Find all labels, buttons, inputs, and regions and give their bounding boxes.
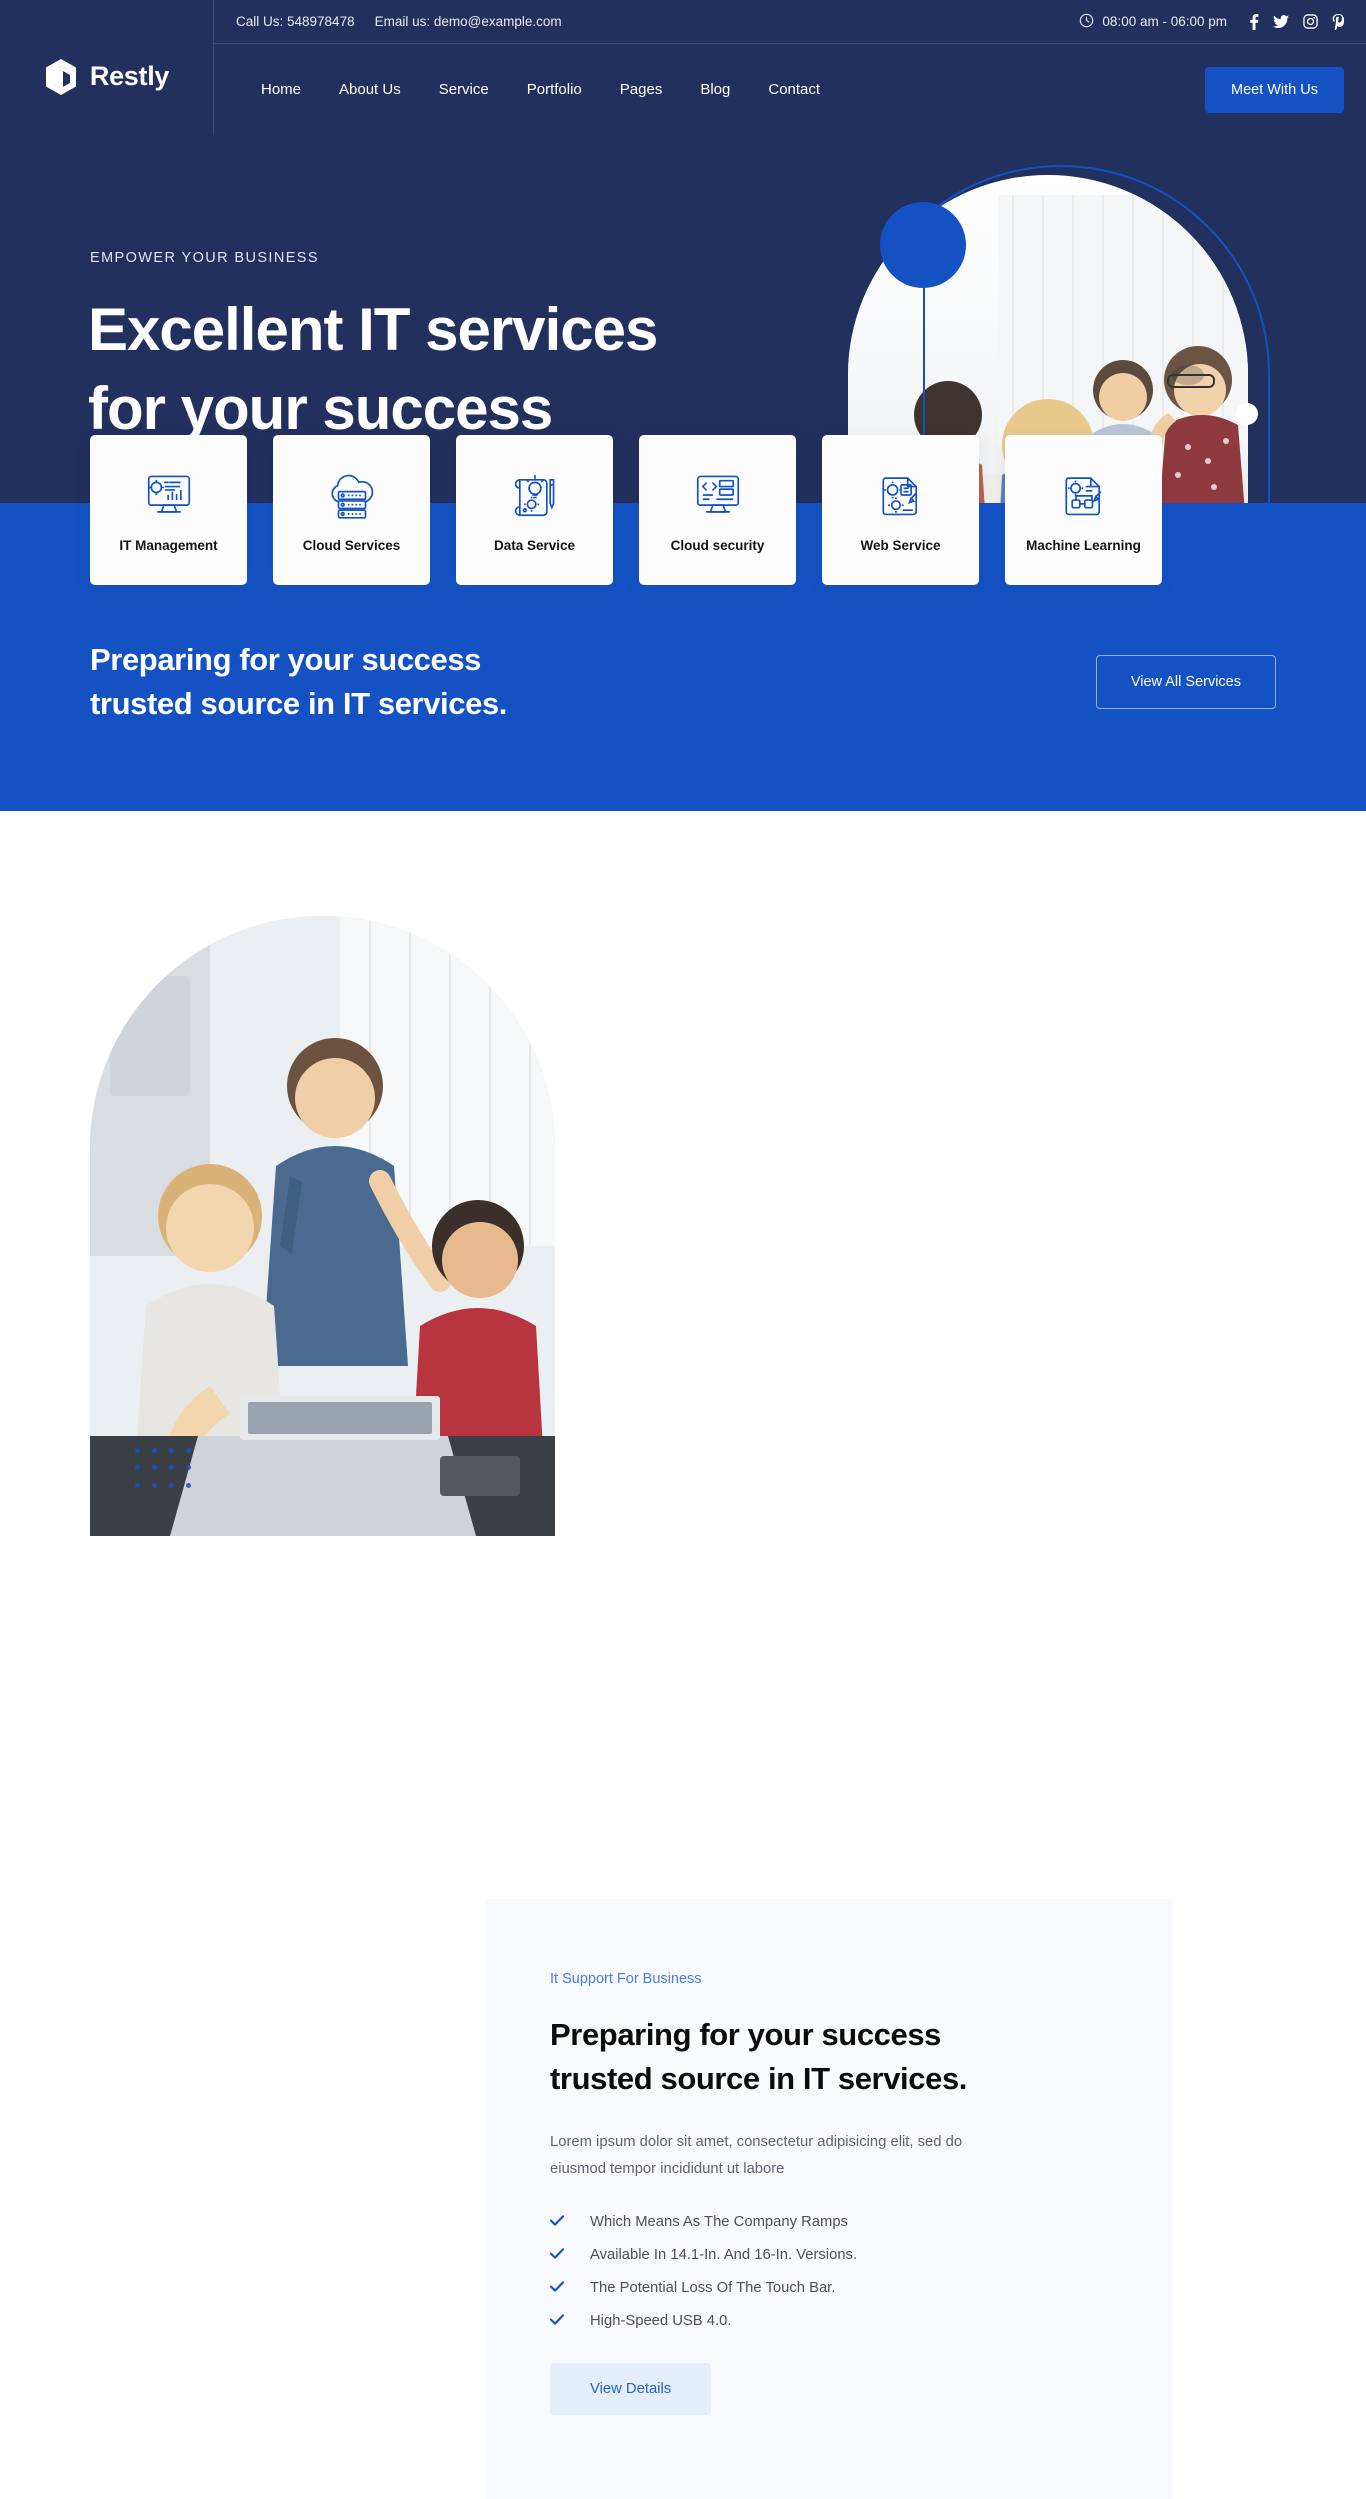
gear-document-icon: [874, 468, 928, 522]
about-content-card: It Support For Business Preparing for yo…: [486, 1899, 1172, 2499]
pinterest-icon[interactable]: [1332, 14, 1344, 30]
about-feature-list: Which Means As The Company Ramps Availab…: [550, 2214, 1108, 2329]
service-card-cloud-security[interactable]: Cloud security: [639, 435, 796, 585]
hexagon-logo-icon: [44, 58, 78, 96]
services-cta-band: IT Management Cloud Services: [0, 503, 1366, 811]
hero-title: Excellent IT services for your success: [88, 290, 788, 448]
phone-text[interactable]: Call Us: 548978478: [236, 14, 355, 29]
feature-label: Available In 14.1-In. And 16-In. Version…: [590, 2247, 857, 2263]
service-card-label: Machine Learning: [1026, 538, 1141, 553]
nav-item-about-us[interactable]: About Us: [320, 81, 420, 98]
cloud-server-icon: [325, 468, 379, 522]
feature-item: The Potential Loss Of The Touch Bar.: [550, 2280, 1108, 2296]
hero-title-line1: Excellent IT services: [88, 296, 657, 363]
main-navigation: Home About Us Service Portfolio Pages Bl…: [242, 81, 839, 98]
twitter-icon[interactable]: [1273, 15, 1289, 29]
idea-design-icon: [508, 468, 562, 522]
check-icon: [550, 2214, 564, 2229]
service-card-label: Cloud security: [671, 538, 765, 553]
view-all-services-button[interactable]: View All Services: [1096, 655, 1276, 709]
feature-item: High-Speed USB 4.0.: [550, 2313, 1108, 2329]
meet-with-us-button[interactable]: Meet With Us: [1205, 67, 1344, 113]
brand-name: Restly: [90, 61, 169, 92]
nav-item-contact[interactable]: Contact: [749, 81, 839, 98]
about-title-line2: trusted source in IT services.: [550, 2061, 967, 2096]
service-card-it-management[interactable]: IT Management: [90, 435, 247, 585]
social-links: [1249, 14, 1344, 30]
nav-item-home[interactable]: Home: [242, 81, 320, 98]
feature-item: Which Means As The Company Ramps: [550, 2214, 1108, 2230]
facebook-icon[interactable]: [1249, 14, 1259, 30]
cta-title-line1: Preparing for your success: [90, 642, 481, 677]
clock-icon: [1079, 13, 1094, 31]
feature-label: Which Means As The Company Ramps: [590, 2214, 848, 2230]
hero-title-line2: for your success: [88, 375, 552, 442]
service-card-machine-learning[interactable]: Machine Learning: [1005, 435, 1162, 585]
nav-item-portfolio[interactable]: Portfolio: [508, 81, 601, 98]
blue-circle-decoration: [880, 202, 966, 288]
check-icon: [550, 2280, 564, 2295]
service-cards-row: IT Management Cloud Services: [90, 435, 1162, 585]
view-details-button[interactable]: View Details: [550, 2363, 711, 2415]
monitor-analytics-icon: [142, 468, 196, 522]
contact-info: Call Us: 548978478 Email us: demo@exampl…: [236, 14, 562, 29]
about-section: It Support For Business Preparing for yo…: [0, 811, 1366, 1601]
hours-and-socials: 08:00 am - 06:00 pm: [1079, 13, 1344, 31]
email-text[interactable]: Email us: demo@example.com: [375, 14, 562, 29]
service-card-web-service[interactable]: Web Service: [822, 435, 979, 585]
main-nav-row: Home About Us Service Portfolio Pages Bl…: [214, 44, 1366, 135]
about-image-group: [90, 916, 555, 1536]
top-info-bar: Call Us: 548978478 Email us: demo@exampl…: [214, 0, 1366, 44]
landing-page: Restly Call Us: 548978478 Email us: demo…: [0, 0, 1366, 1601]
logo-container[interactable]: Restly: [0, 0, 214, 135]
ai-chip-document-icon: [1057, 468, 1111, 522]
service-card-label: Data Service: [494, 538, 575, 553]
service-card-cloud-services[interactable]: Cloud Services: [273, 435, 430, 585]
nav-item-pages[interactable]: Pages: [601, 81, 682, 98]
about-description: Lorem ipsum dolor sit amet, consectetur …: [550, 2129, 975, 2184]
service-card-label: IT Management: [119, 538, 217, 553]
office-hours: 08:00 am - 06:00 pm: [1079, 13, 1227, 31]
about-photo: [90, 916, 555, 1536]
feature-label: High-Speed USB 4.0.: [590, 2313, 731, 2329]
site-header: Restly Call Us: 548978478 Email us: demo…: [0, 0, 1366, 135]
service-card-data-service[interactable]: Data Service: [456, 435, 613, 585]
hero-eyebrow: EMPOWER YOUR BUSINESS: [90, 250, 319, 266]
dots-decoration: [135, 1448, 197, 1494]
brand-logo[interactable]: Restly: [44, 40, 169, 96]
about-title: Preparing for your success trusted sourc…: [550, 2013, 1108, 2101]
cta-row: Preparing for your success trusted sourc…: [90, 638, 1276, 726]
feature-item: Available In 14.1-In. And 16-In. Version…: [550, 2247, 1108, 2263]
nav-item-service[interactable]: Service: [420, 81, 508, 98]
white-dot-decoration: [1236, 403, 1258, 425]
code-monitor-icon: [691, 468, 745, 522]
check-icon: [550, 2247, 564, 2262]
check-icon: [550, 2313, 564, 2328]
feature-label: The Potential Loss Of The Touch Bar.: [590, 2280, 835, 2296]
service-card-label: Web Service: [860, 538, 940, 553]
service-card-label: Cloud Services: [303, 538, 401, 553]
cta-title-line2: trusted source in IT services.: [90, 686, 507, 721]
nav-item-blog[interactable]: Blog: [681, 81, 749, 98]
about-title-line1: Preparing for your success: [550, 2017, 941, 2052]
instagram-icon[interactable]: [1303, 14, 1318, 29]
about-eyebrow: It Support For Business: [550, 1971, 1108, 1987]
cta-title: Preparing for your success trusted sourc…: [90, 638, 507, 726]
hours-text: 08:00 am - 06:00 pm: [1102, 14, 1227, 29]
